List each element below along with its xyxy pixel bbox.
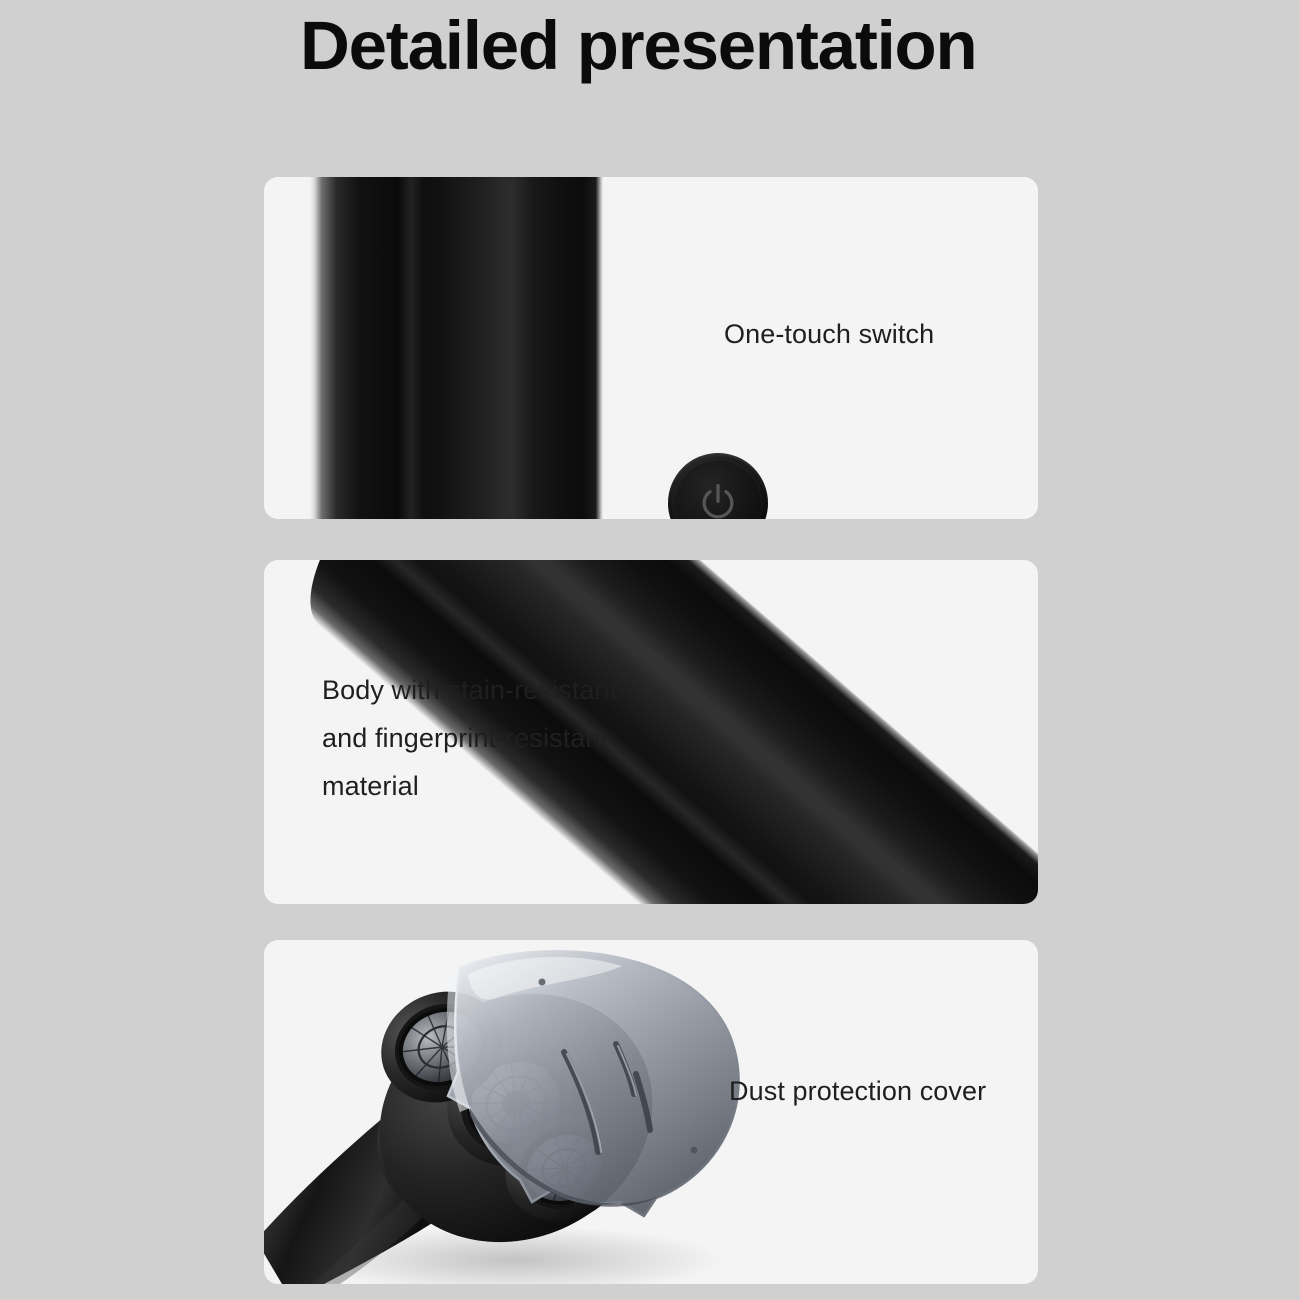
feature-label-line-1: Body with stain-resistant: [322, 675, 617, 705]
product-detail-page: Detailed presentation One-touch switch: [0, 0, 1300, 1300]
power-icon: [697, 482, 739, 519]
feature-card-stain-resistant-body: Body with stain-resistant and fingerprin…: [264, 560, 1038, 904]
feature-label-dust-protection-cover: Dust protection cover: [729, 1067, 986, 1115]
highlight-sheen-secondary: [492, 177, 533, 519]
feature-card-dust-protection-cover: Dust protection cover: [264, 940, 1038, 1284]
page-title: Detailed presentation: [300, 8, 1220, 84]
feature-label-line-2: and fingerprint-resistant: [322, 723, 608, 753]
power-button-graphic: [668, 453, 768, 519]
shaver-body-cylinder-image: [310, 177, 603, 519]
feature-label-stain-resistant-body: Body with stain-resistant and fingerprin…: [322, 666, 712, 810]
feature-label-line-3: material: [322, 771, 419, 801]
feature-card-one-touch-switch: One-touch switch: [264, 177, 1038, 519]
feature-label-one-touch-switch: One-touch switch: [724, 310, 934, 358]
highlight-sheen: [398, 177, 424, 519]
